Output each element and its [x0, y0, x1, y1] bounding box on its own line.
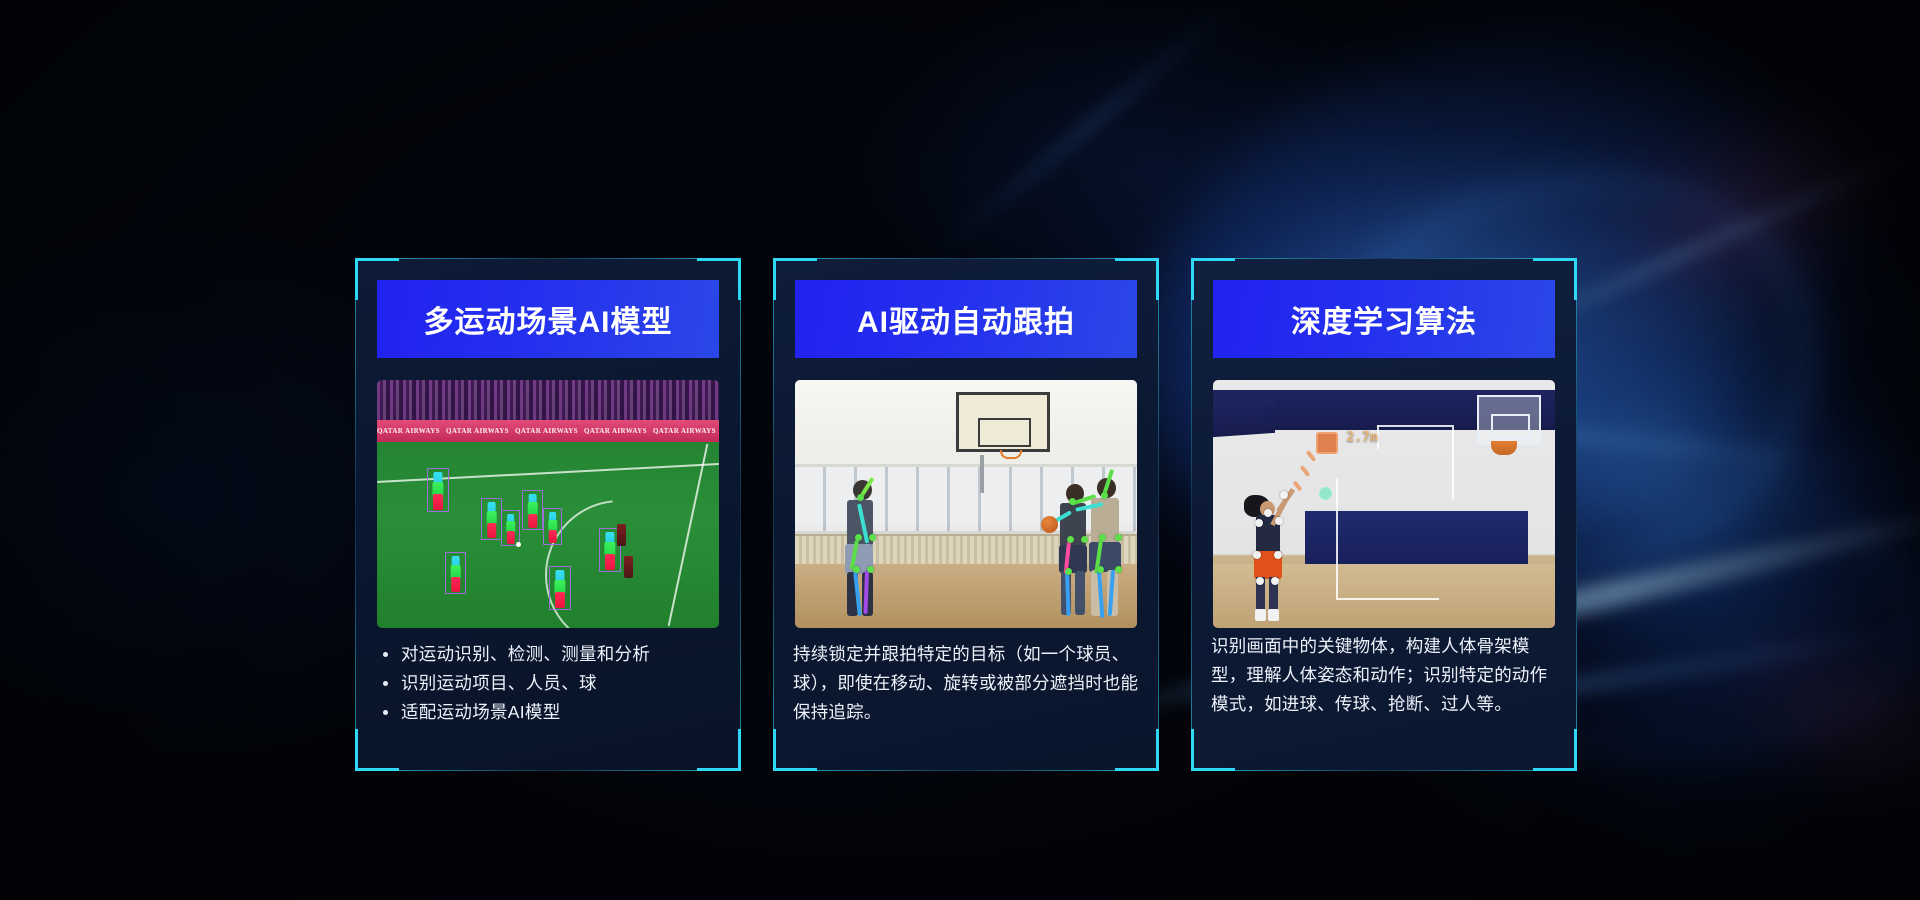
card-description: 识别画面中的关键物体，构建人体骨架模型，理解人体姿态和动作；识别特定的动作模式，…: [1211, 632, 1559, 719]
basketball-backboard: [1477, 395, 1541, 445]
trajectory-dash: [1306, 450, 1317, 462]
corner-bracket-bottom-left-icon: [773, 768, 817, 771]
card-edge-top: [817, 258, 1115, 259]
court-pad-lower: [1305, 511, 1527, 566]
list-item: 识别运动项目、人员、球: [377, 669, 721, 698]
sponsor-text: QATAR AIRWAYS: [653, 427, 716, 435]
skeleton-joint: [1115, 566, 1122, 573]
sponsor-text: QATAR AIRWAYS: [377, 427, 440, 435]
card-edge-bottom: [399, 770, 697, 771]
trajectory-dash: [1299, 465, 1310, 477]
corner-bracket-top-right-vertical-icon: [1156, 258, 1159, 300]
corner-bracket-bottom-right-icon: [1533, 768, 1577, 771]
basketball-hoop: [1491, 441, 1517, 455]
tracking-guide-line: [1377, 425, 1452, 427]
skeleton-joint: [1275, 517, 1283, 525]
corner-bracket-top-left-vertical-icon: [1191, 258, 1194, 300]
pitch-line: [668, 444, 709, 626]
card-description: 持续锁定并跟拍特定的目标（如一个球员、球），即使在移动、旋转或被部分遮挡时也能保…: [793, 640, 1141, 727]
corner-bracket-top-right-vertical-icon: [1574, 258, 1577, 300]
card-edge-bottom: [1235, 770, 1533, 771]
soccer-scene: QATAR AIRWAYS QATAR AIRWAYS QATAR AIRWAY…: [377, 380, 719, 628]
ball-detection-box: [1316, 432, 1338, 454]
skeleton-joint: [853, 566, 860, 573]
card-edge-right: [1158, 300, 1159, 729]
soccer-ball: [516, 542, 521, 547]
feature-bullet-list: 对运动识别、检测、测量和分析 识别运动项目、人员、球 适配运动场景AI模型: [377, 640, 721, 727]
card-edge-bottom: [817, 770, 1115, 771]
corner-bracket-top-right-icon: [1115, 258, 1159, 261]
corner-bracket-top-right-vertical-icon: [738, 258, 741, 300]
corner-bracket-top-left-icon: [773, 258, 817, 261]
detection-box: [501, 510, 520, 546]
skeleton-joint: [1067, 536, 1074, 543]
corner-bracket-bottom-left-vertical-icon: [355, 729, 358, 771]
card-title-ai-auto-tracking: AI驱动自动跟拍: [795, 280, 1137, 358]
skeleton-joint: [857, 494, 864, 501]
card-body-deep-learning-algorithm: 识别画面中的关键物体，构建人体骨架模型，理解人体姿态和动作；识别特定的动作模式，…: [1211, 632, 1559, 753]
basketball-backboard: [956, 392, 1050, 452]
sponsor-board: QATAR AIRWAYS QATAR AIRWAYS QATAR AIRWAY…: [377, 420, 719, 442]
corner-bracket-top-right-icon: [1533, 258, 1577, 261]
opponent-player: [624, 556, 633, 578]
tracking-guide-line: [1336, 598, 1439, 600]
hoop-pole: [980, 455, 984, 493]
corner-bracket-bottom-left-icon: [1191, 768, 1235, 771]
feature-card-row: 多运动场景AI模型 QATAR AIRWAYS QATAR AIRWAYS QA…: [355, 258, 1577, 771]
corner-bracket-top-left-icon: [355, 258, 399, 261]
skeleton-joint: [1065, 568, 1072, 575]
feature-card-multi-sport-ai-model[interactable]: 多运动场景AI模型 QATAR AIRWAYS QATAR AIRWAYS QA…: [355, 258, 741, 771]
tracking-marker: [1319, 487, 1332, 500]
corner-bracket-top-left-icon: [1191, 258, 1235, 261]
detection-box: [445, 552, 466, 594]
corner-bracket-bottom-right-vertical-icon: [1574, 729, 1577, 771]
skeleton-joint: [1101, 492, 1108, 499]
corner-bracket-bottom-right-vertical-icon: [738, 729, 741, 771]
basketball: [1041, 516, 1058, 533]
card-edge-left: [355, 300, 356, 729]
detection-box: [549, 566, 571, 610]
detection-box: [427, 468, 449, 512]
corner-bracket-bottom-left-icon: [355, 768, 399, 771]
skeleton-joint: [1115, 534, 1122, 541]
skeleton-joint: [867, 566, 874, 573]
feature-card-deep-learning-algorithm[interactable]: 深度学习算法 2.7m: [1191, 258, 1577, 771]
card-edge-top: [399, 258, 697, 259]
card-media-court-shot-analysis: 2.7m: [1213, 380, 1555, 628]
card-edge-right: [740, 300, 741, 729]
skeleton-joint: [1099, 534, 1106, 541]
tracking-guide-line: [1336, 479, 1338, 598]
pose-skeleton: [843, 472, 887, 620]
card-edge-left: [773, 300, 774, 729]
skeleton-joint: [869, 534, 876, 541]
corner-bracket-bottom-left-vertical-icon: [773, 729, 776, 771]
pose-skeleton: [1240, 489, 1304, 628]
skeleton-joint: [855, 534, 862, 541]
corner-bracket-top-right-icon: [697, 258, 741, 261]
list-item: 对运动识别、检测、测量和分析: [377, 640, 721, 669]
corner-bracket-bottom-right-icon: [1115, 768, 1159, 771]
skeleton-joint: [1069, 498, 1076, 505]
corner-bracket-bottom-left-vertical-icon: [1191, 729, 1194, 771]
card-title-deep-learning-algorithm: 深度学习算法: [1213, 280, 1555, 358]
card-title-multi-sport-ai-model: 多运动场景AI模型: [377, 280, 719, 358]
pose-skeleton: [1085, 468, 1133, 622]
detection-box: [522, 490, 543, 530]
player-leg: [1075, 571, 1085, 615]
card-media-gym-pose-tracking: [795, 380, 1137, 628]
corner-bracket-top-left-vertical-icon: [355, 258, 358, 300]
player-shoe: [1255, 609, 1266, 621]
skeleton-joint: [1097, 566, 1104, 573]
card-media-soccer-detection: QATAR AIRWAYS QATAR AIRWAYS QATAR AIRWAY…: [377, 380, 719, 628]
player-shoe: [1268, 609, 1279, 621]
gym-scene: [795, 380, 1137, 628]
detection-box: [481, 498, 502, 540]
opponent-player: [617, 524, 626, 546]
feature-card-ai-auto-tracking[interactable]: AI驱动自动跟拍: [773, 258, 1159, 771]
detection-box: [543, 508, 562, 545]
court-pad-left: [1213, 398, 1275, 437]
corner-bracket-top-left-vertical-icon: [773, 258, 776, 300]
card-edge-left: [1191, 300, 1192, 729]
card-edge-right: [1576, 300, 1577, 729]
sponsor-text: QATAR AIRWAYS: [584, 427, 647, 435]
card-edge-top: [1235, 258, 1533, 259]
corner-bracket-bottom-right-icon: [697, 768, 741, 771]
corner-bracket-bottom-right-vertical-icon: [1156, 729, 1159, 771]
tracking-guide-line: [1452, 425, 1454, 499]
sponsor-text: QATAR AIRWAYS: [515, 427, 578, 435]
list-item: 适配运动场景AI模型: [377, 698, 721, 727]
card-body-ai-auto-tracking: 持续锁定并跟拍特定的目标（如一个球员、球），即使在移动、旋转或被部分遮挡时也能保…: [793, 640, 1141, 753]
sponsor-text: QATAR AIRWAYS: [446, 427, 509, 435]
distance-label: 2.7m: [1346, 430, 1377, 445]
card-body-multi-sport-ai-model: 对运动识别、检测、测量和分析 识别运动项目、人员、球 适配运动场景AI模型: [377, 640, 721, 753]
court-scene: 2.7m: [1213, 380, 1555, 628]
